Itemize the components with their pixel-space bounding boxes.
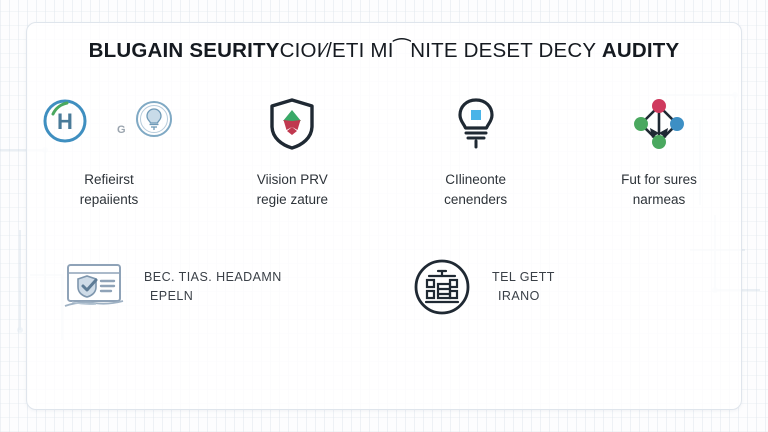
page-title-part3: AUDITY: [602, 39, 680, 62]
feature-network-label-line1: Fut for sures: [621, 172, 697, 187]
feature-lightbulb-icons: [455, 96, 497, 152]
feature-shield-label-line1: Viision PRV: [257, 172, 328, 187]
feature-hospital-label-line2: repaiients: [80, 192, 139, 207]
feature-hospital-icons: H G: [34, 96, 184, 152]
feature-bank-circle-label-line1: TEL GETT: [492, 270, 555, 284]
icon-cluster: H G: [34, 96, 184, 152]
bank-building-circle-icon: [413, 258, 471, 316]
feature-network-label-line2: narmeas: [633, 192, 686, 207]
feature-browser-audit-label-line1: BEC. TIAS. HEADAMN: [144, 270, 282, 284]
network-nodes-icon: [630, 97, 688, 151]
feature-network-label: Fut for sures narmeas: [621, 170, 697, 209]
feature-network[interactable]: Fut for sures narmeas: [584, 96, 734, 209]
feature-bank-circle-label-line2: IRANO: [492, 287, 555, 306]
feature-hospital-label: Refieirst repaiients: [80, 170, 139, 209]
feature-hospital[interactable]: H G Refieirst repaiients: [34, 96, 184, 209]
feature-shield-label-line2: regie zature: [257, 192, 328, 207]
page-title-part1: BLUGAIN SEURITY: [89, 39, 280, 62]
bulb-circle-icon: [132, 97, 176, 141]
page-title: BLUGAIN SEURITYCIOI⁄/ETI MI⁀NITE DESET D…: [0, 38, 768, 63]
g-badge-label: G: [117, 124, 126, 136]
feature-row-bottom: BEC. TIAS. HEADAMN EPELN: [60, 258, 708, 316]
shield-icon: [268, 97, 316, 151]
feature-hospital-label-line1: Refieirst: [84, 172, 134, 187]
feature-lightbulb-label-line1: CIlineonte: [445, 172, 506, 187]
svg-text:H: H: [57, 109, 73, 134]
feature-network-icons: [630, 96, 688, 152]
feature-row-top: H G Refieirst repaiients: [34, 96, 734, 209]
hospital-circle-icon: H: [40, 96, 90, 146]
feature-bank-circle[interactable]: TEL GETT IRANO: [408, 258, 708, 316]
content-card: [26, 22, 742, 410]
feature-bank-circle-label: TEL GETT IRANO: [492, 268, 555, 307]
slide-canvas: BLUGAIN SEURITYCIOI⁄/ETI MI⁀NITE DESET D…: [0, 0, 768, 432]
lightbulb-icon: [455, 97, 497, 151]
feature-shield-icons: [268, 96, 316, 152]
feature-browser-audit[interactable]: BEC. TIAS. HEADAMN EPELN: [60, 258, 360, 316]
feature-bank-circle-icon-wrap: [408, 258, 476, 316]
feature-browser-audit-label: BEC. TIAS. HEADAMN EPELN: [144, 268, 282, 307]
feature-shield[interactable]: Viision PRV regie zature: [217, 96, 367, 209]
feature-lightbulb-label-line2: cenenders: [444, 192, 507, 207]
feature-lightbulb[interactable]: CIlineonte cenenders: [401, 96, 551, 209]
page-title-part2: CIOI⁄/ETI MI⁀NITE DESET DECY: [280, 39, 596, 62]
feature-lightbulb-label: CIlineonte cenenders: [444, 170, 507, 209]
feature-shield-label: Viision PRV regie zature: [257, 170, 328, 209]
browser-shield-check-icon: [62, 261, 126, 313]
feature-browser-audit-label-line2: EPELN: [144, 287, 282, 306]
feature-browser-audit-icon-wrap: [60, 258, 128, 316]
